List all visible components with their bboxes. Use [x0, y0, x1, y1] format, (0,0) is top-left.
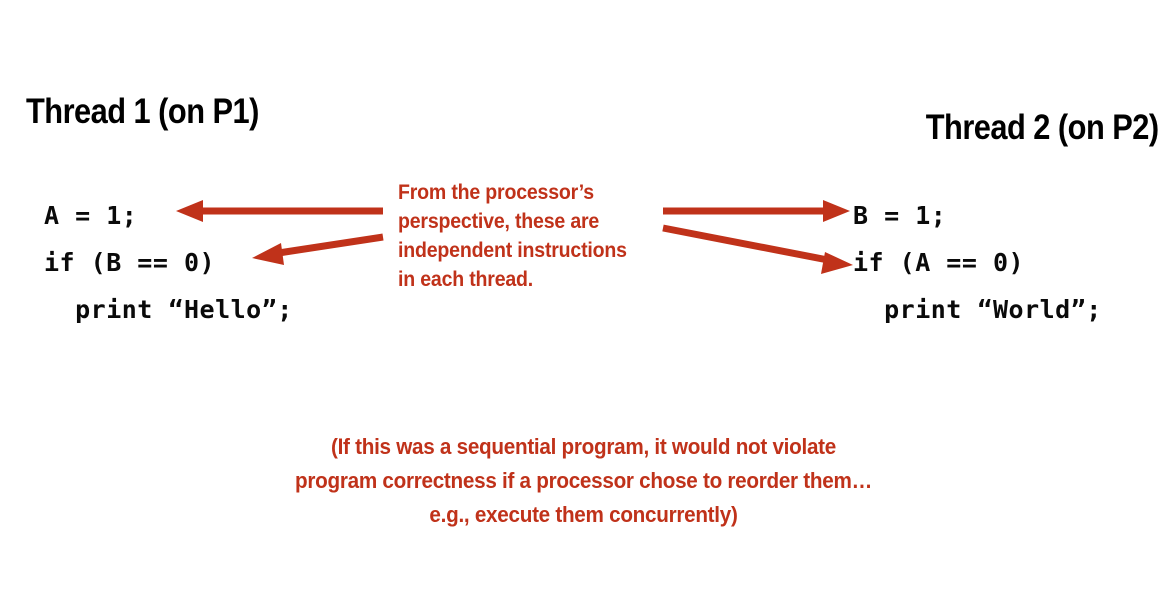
center-annotation: From the processor’s perspective, these … [398, 178, 668, 294]
center-annotation-line-2: perspective, these are [398, 207, 668, 236]
arrow-to-thread2-branch-icon [663, 228, 853, 274]
bottom-caption: (If this was a sequential program, it wo… [0, 430, 1167, 532]
bottom-caption-line-3: e.g., execute them concurrently) [35, 498, 1132, 532]
bottom-caption-line-2: program correctness if a processor chose… [35, 464, 1132, 498]
center-annotation-line-4: in each thread. [398, 265, 668, 294]
thread2-heading: Thread 2 (on P2) [926, 108, 1159, 148]
thread1-heading: Thread 1 (on P1) [26, 92, 259, 132]
slide-canvas: Thread 1 (on P1) Thread 2 (on P2) A = 1;… [0, 0, 1167, 592]
thread1-code-block: A = 1; if (B == 0) print “Hello”; [44, 192, 293, 333]
thread2-code-block: B = 1; if (A == 0) print “World”; [853, 192, 1102, 333]
center-annotation-line-1: From the processor’s [398, 178, 668, 207]
bottom-caption-line-1: (If this was a sequential program, it wo… [35, 430, 1132, 464]
center-annotation-line-3: independent instructions [398, 236, 668, 265]
arrow-to-thread2-assign-icon [663, 200, 850, 222]
